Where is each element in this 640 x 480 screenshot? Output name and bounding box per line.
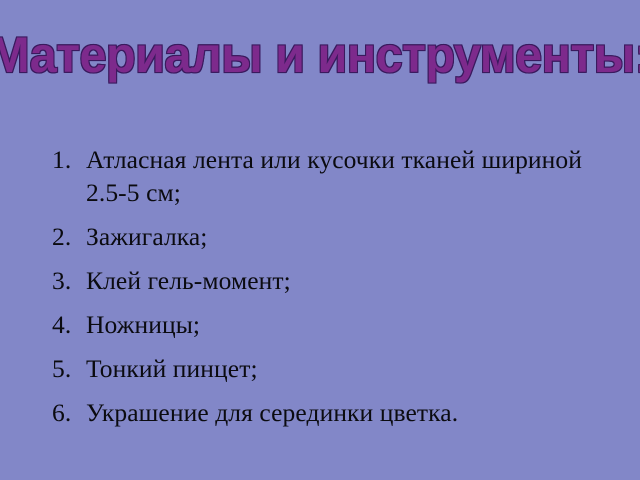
list-item-label: Украшение для серединки цветка. [86, 396, 592, 429]
list-item-number: 5. [52, 352, 86, 385]
slide-title-container: Материалы и инструменты: [0, 22, 640, 88]
list-item-number: 2. [52, 220, 86, 253]
list-item-number: 1. [52, 143, 86, 176]
list-item: 5. Тонкий пинцет; [52, 352, 592, 385]
list-item: 6. Украшение для серединки цветка. [52, 396, 592, 429]
list-item: 4. Ножницы; [52, 308, 592, 341]
materials-list: 1. Атласная лента или кусочки тканей шир… [52, 143, 592, 429]
list-item-number: 6. [52, 396, 86, 429]
slide-title: Материалы и инструменты: [0, 30, 640, 80]
list-item: 2. Зажигалка; [52, 220, 592, 253]
presentation-slide: Материалы и инструменты: 1. Атласная лен… [0, 0, 640, 480]
list-item-label: Тонкий пинцет; [86, 352, 592, 385]
list-item-number: 4. [52, 308, 86, 341]
list-item: 3. Клей гель-момент; [52, 264, 592, 297]
list-item-label: Клей гель-момент; [86, 264, 592, 297]
list-item: 1. Атласная лента или кусочки тканей шир… [52, 143, 592, 209]
list-item-number: 3. [52, 264, 86, 297]
list-item-label: Ножницы; [86, 308, 592, 341]
list-item-label: Атласная лента или кусочки тканей ширино… [86, 143, 592, 209]
list-item-label: Зажигалка; [86, 220, 592, 253]
